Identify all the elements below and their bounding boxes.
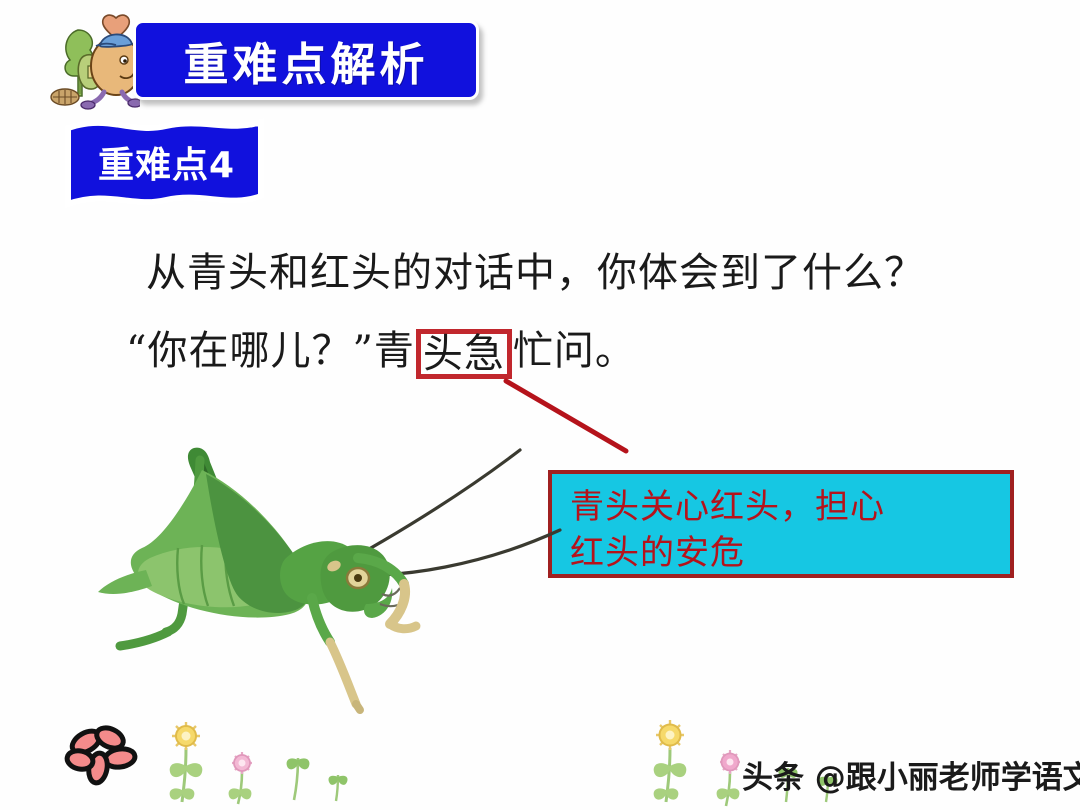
student-walking-icon xyxy=(32,10,140,110)
watermark: 头条 @跟小丽老师学语文 xyxy=(742,752,1080,796)
question-line-1: 从青头和红头的对话中，你体会到了什么？ xyxy=(146,240,925,298)
highlighted-characters: 头急 xyxy=(416,329,512,379)
page-title: 重难点解析 xyxy=(183,28,428,93)
grasshopper-illustration xyxy=(90,418,580,718)
question-line-2-prefix: “你在哪儿？”青 xyxy=(126,328,415,374)
answer-callout-box: 青头关心红头，担心 红头的安危 xyxy=(548,470,1014,578)
watermark-text: 头条 @跟小丽老师学语文 xyxy=(742,752,1080,797)
section-badge: 重难点4 xyxy=(62,112,267,212)
question-line-1-text: 从青头和红头的对话中，你体会到了什么？ xyxy=(146,250,925,296)
question-line-2: “你在哪儿？”青头急忙问。 xyxy=(126,318,636,376)
question-line-2-suffix: 忙问。 xyxy=(513,328,636,374)
header-banner: 重难点解析 xyxy=(133,20,479,100)
answer-text: 青头关心红头，担心 红头的安危 xyxy=(570,484,996,576)
flower-cluster-left-icon xyxy=(62,712,362,807)
slide-canvas: 重难点解析 重难点4 从青头和红头的对话中，你体会到了什么？ “你在哪儿？”青头… xyxy=(0,0,1080,810)
